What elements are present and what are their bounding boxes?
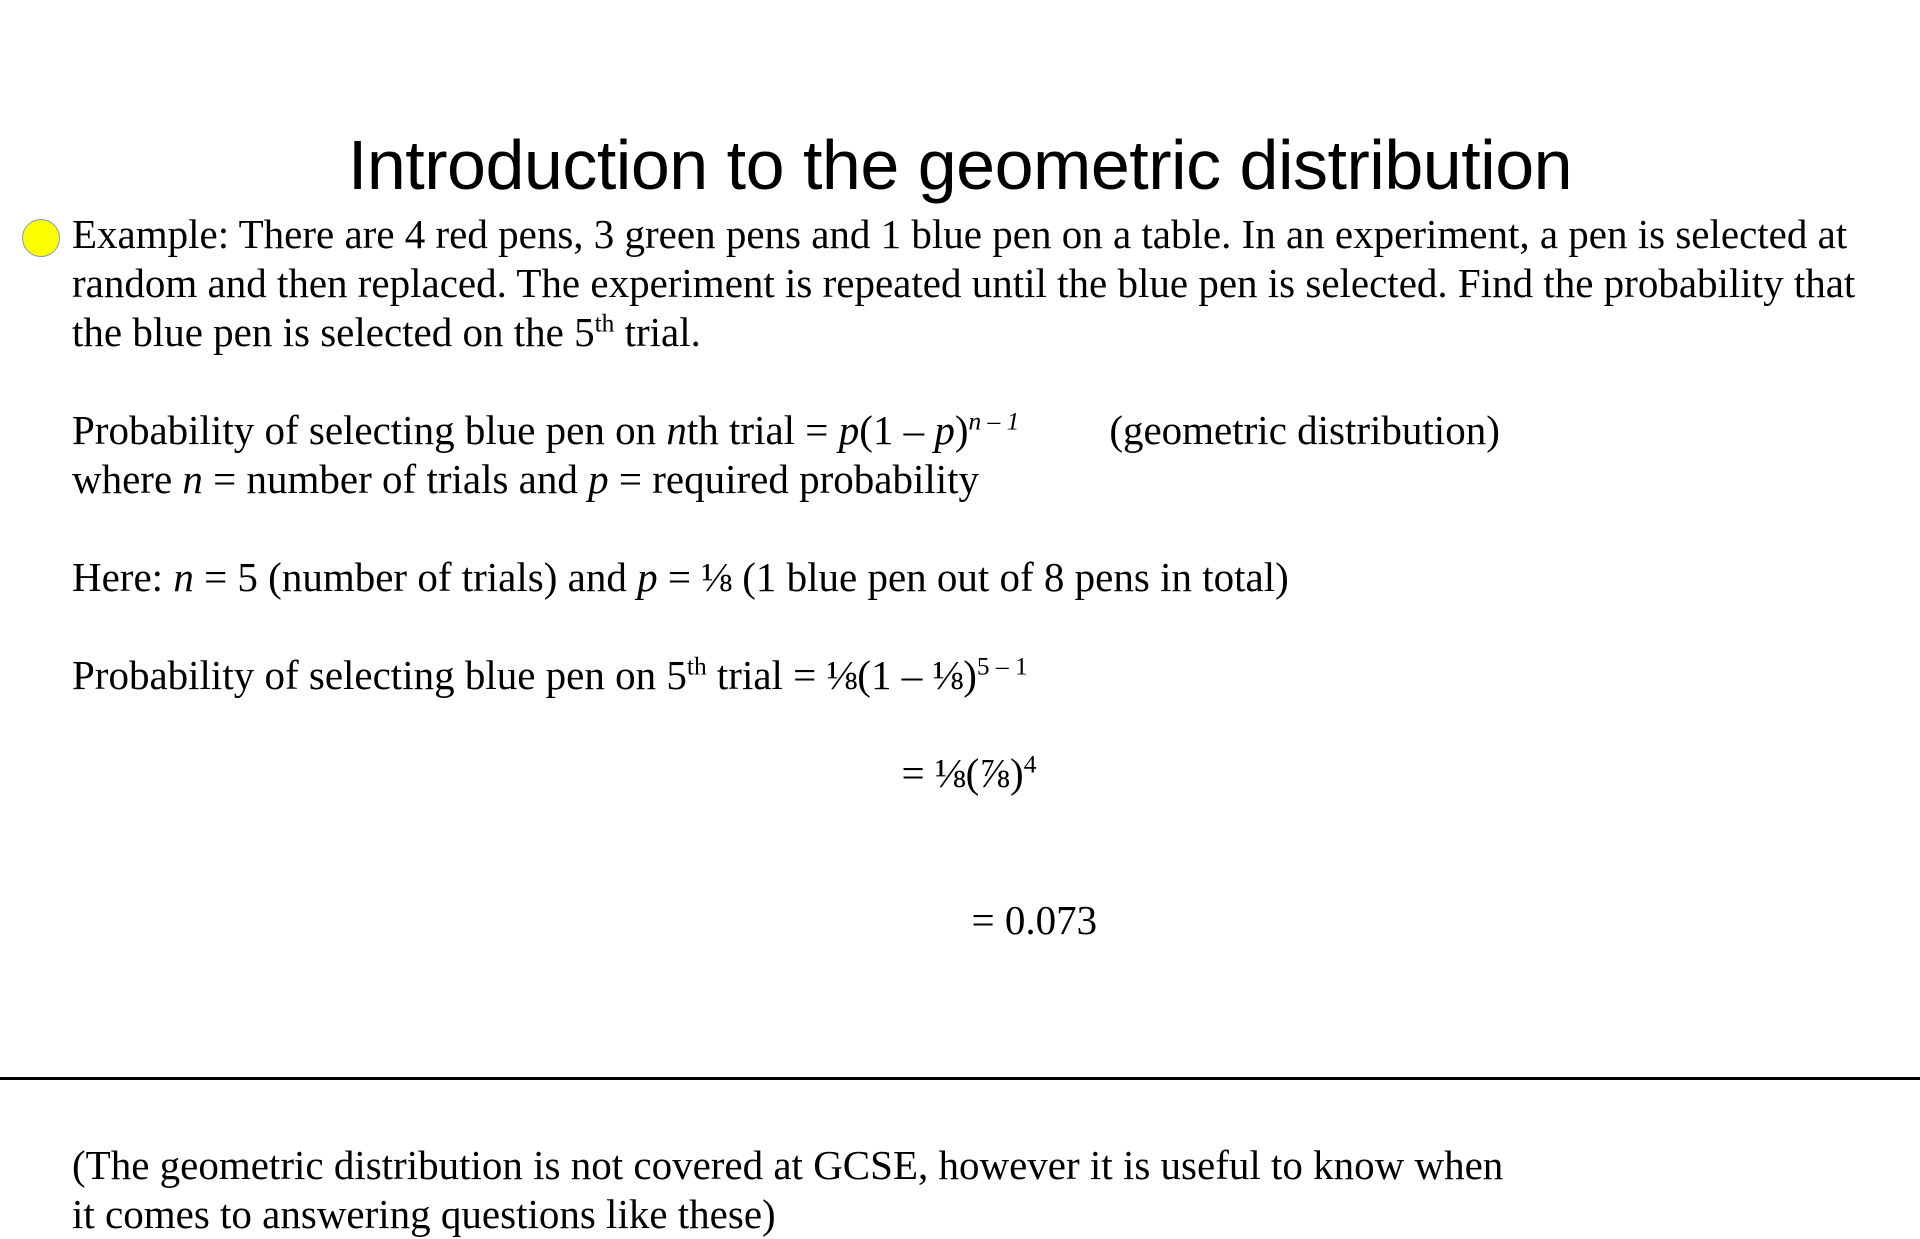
calc-line1-exponent: 5 – 1 [977, 652, 1028, 680]
formula-var-n: n [666, 407, 687, 453]
calc-line2-exponent: 4 [1024, 750, 1037, 778]
formula-line2-pre: where [72, 456, 182, 502]
calc-result: = 0.073 [972, 897, 1098, 943]
here-var-p: p [637, 554, 658, 600]
spacer [20, 994, 1910, 1141]
calc-line1-mid: trial = ⅛(1 – ⅛) [707, 652, 977, 698]
example-tail-text: trial. [614, 309, 701, 355]
formula-line2-mid: = number of trials and [203, 456, 588, 502]
footnote-paragraph: (The geometric distribution is not cover… [20, 1141, 1910, 1239]
spacer [20, 504, 1910, 553]
calculation-line-3: = 0.073 [20, 847, 1910, 994]
formula-line1-mid: th trial = [687, 407, 839, 453]
formula-line-2: where n = number of trials and p = requi… [20, 455, 1910, 504]
example-paragraph: Example: There are 4 red pens, 3 green p… [20, 210, 1910, 357]
formula-line2-var-p: p [588, 456, 609, 502]
yellow-circle-bullet-icon [22, 219, 60, 257]
slide: Introduction to the geometric distributi… [0, 0, 1920, 1080]
slide-body: Example: There are 4 red pens, 3 green p… [20, 210, 1910, 1239]
here-var-n: n [173, 554, 194, 600]
calc-line2-base: = ⅛(⅞) [902, 750, 1024, 796]
here-mid: = 5 (number of trials) and [194, 554, 637, 600]
formula-var-p: p [839, 407, 860, 453]
calc-line1-ordinal: th [687, 652, 707, 680]
spacer [20, 602, 1910, 651]
formula-line-1: Probability of selecting blue pen on nth… [20, 406, 1910, 455]
formula-note: (geometric distribution) [1109, 407, 1500, 453]
page-title: Introduction to the geometric distributi… [0, 125, 1920, 205]
here-line: Here: n = 5 (number of trials) and p = ⅛… [20, 553, 1910, 602]
formula-line1-close: ) [955, 407, 969, 453]
here-pre: Here: [72, 554, 173, 600]
calculation-line-2: = ⅛(⅞)4 [20, 700, 1910, 847]
here-post: = ⅛ (1 blue pen out of 8 pens in total) [658, 554, 1289, 600]
formula-line2-var-n: n [182, 456, 203, 502]
footnote-text: (The geometric distribution is not cover… [72, 1142, 1503, 1237]
example-lead-text: Example: There are 4 red pens, 3 green p… [72, 211, 1855, 355]
formula-line2-post: = required probability [609, 456, 979, 502]
formula-exponent: n – 1 [969, 407, 1020, 435]
spacer [20, 357, 1910, 406]
formula-line1-open: (1 – [859, 407, 934, 453]
example-ordinal-suffix: th [595, 309, 615, 337]
formula-line1-pre: Probability of selecting blue pen on [72, 407, 666, 453]
formula-var-p2: p [934, 407, 955, 453]
calc-line1-pre: Probability of selecting blue pen on 5 [72, 652, 687, 698]
calculation-line-1: Probability of selecting blue pen on 5th… [20, 651, 1910, 700]
